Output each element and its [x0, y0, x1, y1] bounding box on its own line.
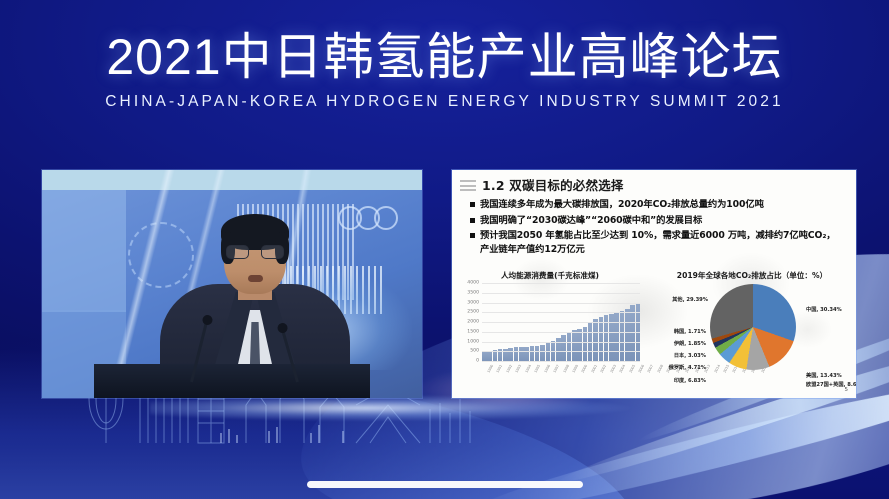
pie-slice-label: 韩国, 1.71% [656, 328, 706, 335]
bar [609, 314, 614, 362]
bar [614, 313, 619, 362]
slide-heading: 1.2 双碳目标的必然选择 [482, 175, 624, 194]
event-title-en: CHINA-JAPAN-KOREA HYDROGEN ENERGY INDUST… [0, 92, 889, 112]
menu-bars-icon [460, 180, 476, 191]
y-axis-tick-label: 2000 [467, 320, 479, 325]
bar-chart-plot-area: 05001000150020002500300035004000 [482, 284, 640, 362]
pie-slice-label: 印度, 6.83% [656, 377, 706, 384]
bar [508, 348, 513, 362]
grid-line: 500 [482, 351, 640, 352]
bar [561, 335, 566, 362]
grid-line: 3500 [482, 293, 640, 294]
event-title-cn: 2021中日韩氢能产业高峰论坛 [0, 26, 889, 88]
y-axis-tick-label: 500 [470, 349, 479, 354]
bullet-text: 我国明确了“2030碳达峰”“2060碳中和”的发展目标 [480, 214, 702, 227]
bar [524, 347, 529, 362]
bar-chart-title: 人均能源消费量(千克标准煤) [452, 270, 648, 281]
y-axis-tick-label: 1000 [467, 339, 479, 344]
event-title-block: 2021中日韩氢能产业高峰论坛 CHINA-JAPAN-KOREA HYDROG… [0, 26, 889, 112]
pie-slice-label: 日本, 3.03% [656, 352, 706, 359]
bullet-text: 预计我国2050 年氢能占比至少达到 10%，需求量近6000 万吨，减排约7亿… [480, 229, 844, 255]
grid-line: 2000 [482, 322, 640, 323]
slide-page-number: 5 [845, 387, 849, 393]
pie-title-text: 2019年全球各地CO₂排放占比（单位：%） [677, 271, 827, 280]
grid-line: 2500 [482, 312, 640, 313]
presentation-slide-panel[interactable]: 1.2 双碳目标的必然选择 我国连续多年成为最大碳排放国，2020年CO₂排放总… [452, 170, 856, 398]
bar [630, 305, 635, 362]
y-axis-tick-label: 3000 [467, 300, 479, 305]
y-axis-tick-label: 0 [476, 359, 479, 364]
livestream-screen: 2021中日韩氢能产业高峰论坛 CHINA-JAPAN-KOREA HYDROG… [0, 0, 889, 499]
bar [588, 323, 593, 362]
grid-line: 4000 [482, 283, 640, 284]
speaker-mouth [248, 275, 263, 282]
pie-wrap [710, 284, 796, 370]
pie-graphic [710, 284, 796, 370]
bar [572, 330, 577, 362]
bar [620, 311, 625, 362]
slide-charts-row: 人均能源消费量(千克标准煤) 0500100015002000250030003… [452, 268, 856, 390]
grid-line: 1000 [482, 342, 640, 343]
co2-share-pie-chart: 2019年全球各地CO₂排放占比（单位：%） 中国, 30.34%美国, 13.… [648, 268, 856, 390]
y-axis-tick-label: 3500 [467, 290, 479, 295]
bar [625, 309, 630, 362]
grid-line: 1500 [482, 332, 640, 333]
pie-slice-label: 中国, 30.34% [806, 306, 842, 313]
bullet-square-icon [470, 202, 475, 207]
list-item: 预计我国2050 年氢能占比至少达到 10%，需求量近6000 万吨，减排约7亿… [470, 229, 844, 255]
podium [94, 364, 370, 398]
energy-consumption-bar-chart: 人均能源消费量(千克标准煤) 0500100015002000250030003… [452, 268, 648, 390]
speaker-video-panel[interactable] [42, 170, 422, 398]
pie-slice-label: 伊朗, 1.85% [656, 340, 706, 347]
bullet-square-icon [470, 218, 475, 223]
list-item: 我国连续多年成为最大碳排放国，2020年CO₂排放总量约为100亿吨 [470, 198, 844, 211]
bullet-square-icon [470, 233, 475, 238]
bar [540, 345, 545, 362]
slide-bullet-list: 我国连续多年成为最大碳排放国，2020年CO₂排放总量约为100亿吨 我国明确了… [470, 198, 844, 258]
pie-slice-label: 俄罗斯, 4.71% [656, 364, 706, 371]
y-axis-tick-label: 1500 [467, 329, 479, 334]
bar [577, 329, 582, 362]
slide-header: 1.2 双碳目标的必然选择 [452, 170, 856, 200]
grid-line: 3000 [482, 303, 640, 304]
grid-line: 0 [482, 361, 640, 362]
bar [599, 317, 604, 362]
pie-slice-label: 美国, 13.43% [806, 372, 842, 379]
glasses-icon [226, 245, 284, 260]
pie-slice-label: 其他, 29.39% [658, 296, 708, 303]
bar [530, 346, 535, 362]
home-indicator[interactable] [307, 481, 583, 488]
bar [546, 343, 551, 362]
bar [519, 347, 524, 362]
y-axis-tick-label: 4000 [467, 281, 479, 286]
y-axis-tick-label: 2500 [467, 310, 479, 315]
bar [535, 346, 540, 362]
bar-chart-x-axis-labels: 1990199119921993199419951996199719981999… [482, 364, 640, 384]
pie-chart-title: 2019年全球各地CO₂排放占比（单位：%） [648, 270, 856, 281]
bar [514, 347, 519, 362]
list-item: 我国明确了“2030碳达峰”“2060碳中和”的发展目标 [470, 214, 844, 227]
bar [567, 333, 572, 362]
bullet-text: 我国连续多年成为最大碳排放国，2020年CO₂排放总量约为100亿吨 [480, 198, 764, 211]
pie-slice-label: 欧盟27国+英国, 8.69% [806, 381, 856, 388]
